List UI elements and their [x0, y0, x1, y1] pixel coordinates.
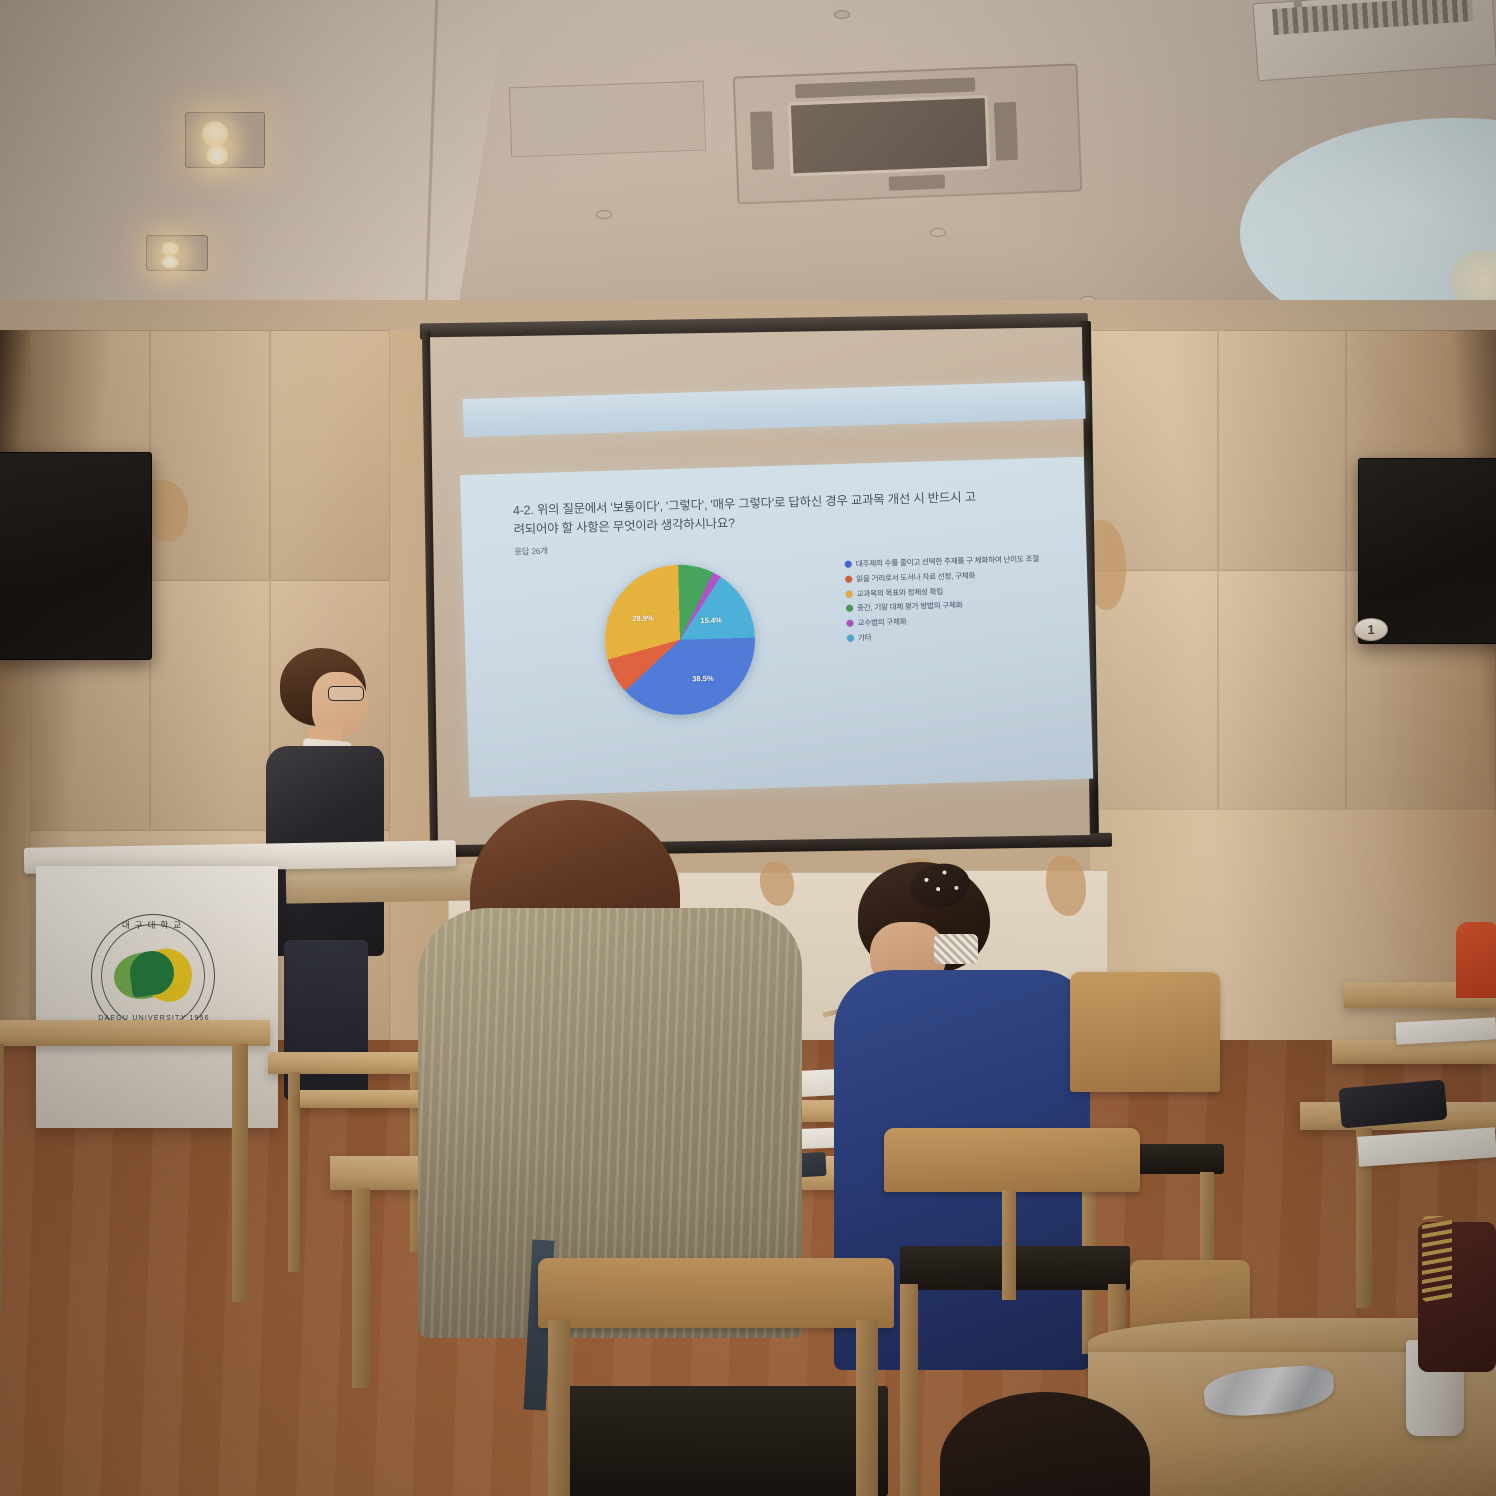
wall-monitor-left [0, 452, 152, 660]
legend-label-line1: 대주제의 수를 줄이고 선택한 주제를 구 [856, 556, 973, 568]
screen-surface: 4-2. 위의 질문에서 '보통이다', '그렇다', '매우 그렇다'로 답하… [430, 327, 1090, 845]
table-leg [288, 1072, 300, 1272]
chair-seat [558, 1386, 888, 1496]
person-scarf [934, 934, 978, 964]
pie-slice-label-blue: 38.5% [692, 674, 714, 684]
legend-label-line2: 체화하여 난이도 조절 [975, 554, 1040, 565]
spotlight-bulb-secondary [161, 256, 179, 268]
legend-item-label: 대주제의 수를 줄이고 선택한 주제를 구 체화하여 난이도 조절 [856, 554, 1040, 570]
right-wall-wood-panels [1090, 330, 1496, 1060]
legend-item: 교과목의 목표와 정체성 확립 [846, 583, 1074, 600]
spotlight-bulb [202, 121, 228, 147]
ceiling-projector [1253, 0, 1496, 81]
ceiling-access-panel [509, 81, 706, 158]
legend-color-swatch-lightblue [847, 634, 854, 641]
chair-leg [548, 1320, 570, 1496]
ceiling-air-conditioner-vent [733, 63, 1083, 204]
chart-legend: 대주제의 수를 줄이고 선택한 주제를 구 체화하여 난이도 조절 읽을 거리로… [845, 553, 1076, 648]
table [0, 1020, 270, 1046]
logo-emblem [112, 939, 194, 1009]
legend-item: 읽을 거리로서 도서나 자료 선정, 구체화 [845, 568, 1073, 585]
projection-screen: 4-2. 위의 질문에서 '보통이다', '그렇다', '매우 그렇다'로 답하… [420, 313, 1120, 864]
table-leg [352, 1188, 370, 1388]
bag-chain-strap [1422, 1216, 1452, 1302]
spotlight-bulb [161, 242, 179, 256]
spotlight-bulb-secondary [206, 145, 228, 165]
sprinkler-head [596, 210, 612, 219]
chair-leg [856, 1320, 878, 1496]
chair-leg [1002, 1190, 1016, 1300]
red-chair [1456, 922, 1496, 998]
wood-panel [150, 330, 270, 580]
legend-color-swatch-purple [846, 620, 853, 627]
slide-question-text: 4-2. 위의 질문에서 '보통이다', '그렇다', '매우 그렇다'로 답하… [513, 488, 984, 540]
chair-back [884, 1128, 1140, 1192]
projector-mount [1292, 0, 1302, 8]
wood-panel [1218, 330, 1346, 570]
slide-content-area: 4-2. 위의 질문에서 '보통이다', '그렇다', '매우 그렇다'로 답하… [460, 457, 1093, 797]
legend-color-swatch-green [846, 605, 853, 612]
chair-back [1070, 972, 1220, 1092]
glasses-icon [328, 686, 364, 701]
table-leg [0, 1044, 4, 1314]
legend-item: 중간, 기말 대체 평가 방법의 구체화 [846, 597, 1074, 614]
sprinkler-head [834, 10, 850, 19]
pie-chart-disc [603, 563, 757, 717]
wall-monitor-right [1358, 458, 1496, 644]
legend-item: 기타 [847, 627, 1075, 644]
legend-color-swatch-red [845, 575, 852, 582]
ceiling-spotlight-upper [185, 112, 265, 168]
wood-panel [270, 330, 390, 580]
table-leg [232, 1044, 248, 1302]
legend-color-swatch-yellow [846, 590, 853, 597]
ceiling-spotlight-lower [146, 235, 208, 271]
chair-back [538, 1258, 894, 1328]
slide-response-count: 응답 26개 [514, 545, 548, 558]
legend-color-swatch-blue [845, 561, 852, 568]
presentation-room-photo: 1 4-2. 위의 질문에서 '보통이다', '그렇다', '매우 그렇다'로 … [0, 0, 1496, 1496]
wood-panel [1218, 570, 1346, 810]
legend-item-label: 기타 [858, 633, 872, 644]
legend-item-label: 중간, 기말 대체 평가 방법의 구체화 [857, 601, 963, 614]
legend-item-label: 교수법의 구체화 [857, 617, 906, 629]
projector-vent [1272, 0, 1473, 35]
logo-korean-text: 대구대학교 [92, 919, 216, 931]
ac-vent-blade-top [795, 77, 975, 98]
legend-item-label: 읽을 거리로서 도서나 자료 선정, 구체화 [856, 571, 975, 585]
pie-slice-label-lightblue: 15.4% [700, 616, 722, 626]
legend-item: 대주제의 수를 줄이고 선택한 주제를 구 체화하여 난이도 조절 [845, 553, 1073, 570]
pie-slice-label-yellow: 28.9% [632, 614, 654, 624]
ac-vent-grille [788, 95, 991, 177]
legend-item: 교수법의 구체화 [846, 612, 1074, 629]
sprinkler-head [930, 228, 946, 237]
wood-panel [150, 580, 270, 830]
ac-vent-blade-left [750, 111, 774, 170]
chair-leg [900, 1284, 918, 1496]
pie-chart: 38.5% 28.9% 15.4% [603, 563, 759, 719]
ceiling [0, 0, 1496, 340]
legend-item-label: 교과목의 목표와 정체성 확립 [857, 586, 944, 599]
ac-vent-blade-bottom [889, 175, 945, 191]
slide-top-strip [463, 381, 1086, 437]
ac-vent-blade-right [994, 102, 1018, 161]
